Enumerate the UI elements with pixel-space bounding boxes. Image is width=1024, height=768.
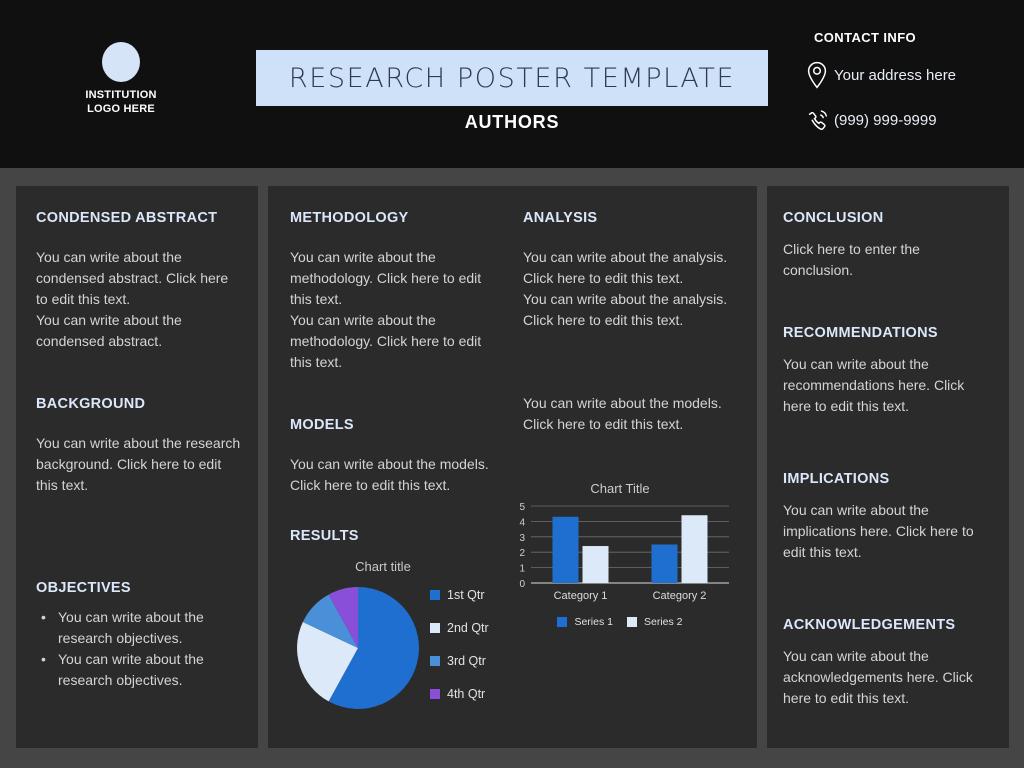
right-content-panel: CONCLUSION Click here to enter the concl…: [767, 186, 1009, 748]
svg-text:1: 1: [519, 564, 525, 575]
research-poster: INSTITUTION LOGO HERE RESEARCH POSTER TE…: [0, 0, 1024, 768]
legend-swatch: [557, 617, 567, 627]
svg-text:Category 2: Category 2: [653, 590, 707, 602]
section-body-analysis: You can write about the analysis. Click …: [523, 247, 733, 331]
bar-chart: Chart Title 012345Category 1Category 2 S…: [505, 481, 735, 628]
legend-label: Series 1: [574, 616, 613, 628]
legend-swatch: [430, 656, 440, 666]
section-heading-implications: IMPLICATIONS: [783, 469, 993, 490]
section-heading-methodology: METHODOLOGY: [290, 208, 500, 229]
legend-swatch: [430, 623, 440, 633]
section-heading-conclusion: CONCLUSION: [783, 208, 993, 229]
left-content-panel: CONDENSED ABSTRACT You can write about t…: [16, 186, 258, 748]
section-body-condensed-abstract: You can write about the condensed abstra…: [36, 247, 242, 352]
bar-chart-plot: 012345Category 1Category 2: [505, 500, 735, 605]
logo-label-line1: INSTITUTION: [76, 88, 166, 102]
pie-chart: Chart title 1st Qtr 2nd Qtr 3rd Qtr 4th …: [290, 559, 500, 728]
middle-content-panel: METHODOLOGY You can write about the meth…: [268, 186, 757, 748]
contact-address-text: Your address here: [834, 67, 956, 84]
phone-icon: [800, 107, 834, 133]
contact-address-row: Your address here: [800, 61, 1010, 89]
legend-label: 3rd Qtr: [447, 654, 486, 668]
legend-item: Series 1: [557, 616, 613, 628]
legend-label: 2nd Qtr: [447, 621, 489, 635]
section-body-recommendations: You can write about the recommendations …: [783, 354, 993, 417]
svg-text:Category 1: Category 1: [554, 590, 608, 602]
legend-label: Series 2: [644, 616, 683, 628]
legend-item: 4th Qtr: [430, 687, 489, 701]
section-heading-analysis: ANALYSIS: [523, 208, 733, 229]
section-body-implications: You can write about the implications her…: [783, 500, 993, 563]
list-item: You can write about the research objecti…: [36, 649, 242, 691]
svg-text:3: 3: [519, 533, 525, 544]
contact-info-block: CONTACT INFO Your address here: [800, 30, 1010, 151]
circle-logo-placeholder-icon: [102, 42, 140, 82]
authors-label: AUTHORS: [256, 112, 768, 133]
section-body-background: You can write about the research backgro…: [36, 433, 242, 496]
pie-chart-title: Chart title: [266, 559, 500, 574]
legend-item: Series 2: [627, 616, 683, 628]
section-body-methodology: You can write about the methodology. Cli…: [290, 247, 500, 373]
svg-text:5: 5: [519, 502, 525, 513]
legend-label: 1st Qtr: [447, 588, 485, 602]
section-body-conclusion: Click here to enter the conclusion.: [783, 239, 993, 281]
section-heading-recommendations: RECOMMENDATIONS: [783, 323, 993, 344]
middle-column-left: METHODOLOGY You can write about the meth…: [290, 186, 500, 728]
institution-logo-block: INSTITUTION LOGO HERE: [76, 42, 166, 116]
svg-text:4: 4: [519, 517, 525, 528]
section-heading-background: BACKGROUND: [36, 394, 242, 415]
legend-item: 3rd Qtr: [430, 654, 489, 668]
legend-label: 4th Qtr: [447, 687, 485, 701]
contact-phone-row: (999) 999-9999: [800, 107, 1010, 133]
page-title: RESEARCH POSTER TEMPLATE: [289, 63, 735, 94]
svg-text:0: 0: [519, 579, 525, 590]
section-heading-models: MODELS: [290, 415, 500, 436]
legend-swatch: [430, 590, 440, 600]
logo-label-line2: LOGO HERE: [76, 102, 166, 116]
poster-title-banner: RESEARCH POSTER TEMPLATE: [256, 50, 768, 106]
objectives-list: You can write about the research objecti…: [36, 607, 242, 691]
section-body-models: You can write about the models. Click he…: [290, 454, 500, 496]
contact-phone-text: (999) 999-9999: [834, 112, 937, 129]
legend-swatch: [430, 689, 440, 699]
legend-item: 1st Qtr: [430, 588, 489, 602]
bar-chart-legend: Series 1 Series 2: [505, 616, 735, 628]
section-heading-objectives: OBJECTIVES: [36, 578, 242, 599]
middle-column-right: ANALYSIS You can write about the analysi…: [523, 186, 733, 628]
pie-chart-legend: 1st Qtr 2nd Qtr 3rd Qtr 4th Qtr: [430, 588, 489, 720]
bar-chart-title: Chart Title: [505, 481, 735, 496]
section-heading-results: RESULTS: [290, 526, 500, 547]
section-body-models-secondary: You can write about the models. Click he…: [523, 393, 733, 435]
legend-swatch: [627, 617, 637, 627]
location-pin-icon: [800, 61, 834, 89]
contact-info-heading: CONTACT INFO: [814, 30, 1010, 45]
legend-item: 2nd Qtr: [430, 621, 489, 635]
pie-chart-plot: 1st Qtr 2nd Qtr 3rd Qtr 4th Qtr: [290, 578, 505, 728]
section-body-acknowledgements: You can write about the acknowledgements…: [783, 646, 993, 709]
section-heading-condensed-abstract: CONDENSED ABSTRACT: [36, 208, 242, 229]
section-heading-acknowledgements: ACKNOWLEDGEMENTS: [783, 615, 993, 636]
svg-text:2: 2: [519, 548, 525, 559]
poster-header: INSTITUTION LOGO HERE RESEARCH POSTER TE…: [0, 0, 1024, 168]
list-item: You can write about the research objecti…: [36, 607, 242, 649]
